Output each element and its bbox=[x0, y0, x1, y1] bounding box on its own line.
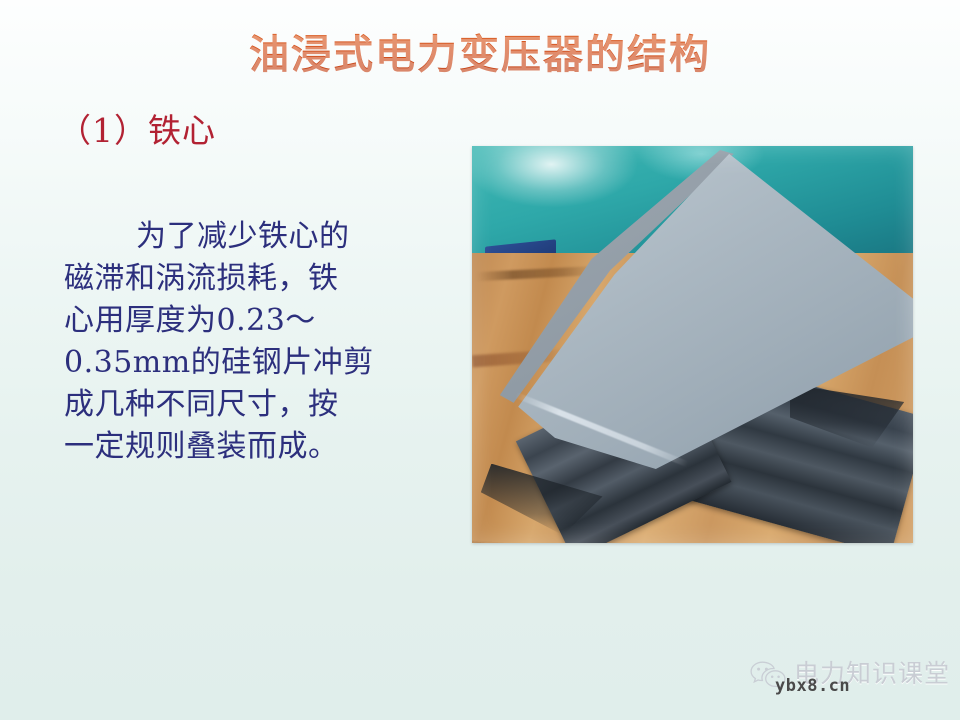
watermark-url: ybx8.cn bbox=[775, 676, 850, 696]
photo-artwork bbox=[472, 146, 913, 543]
watermark: 电力知识课堂 ybx8.cn bbox=[748, 652, 954, 704]
body-line: 磁滞和涡流损耗，铁 bbox=[64, 258, 436, 300]
body-line: 心用厚度为0.23～ bbox=[64, 300, 436, 342]
slide-canvas: 油浸式电力变压器的结构 （1）铁心 为了减少铁心的 磁滞和涡流损耗，铁 心用厚度… bbox=[0, 0, 960, 720]
body-paragraph: 为了减少铁心的 磁滞和涡流损耗，铁 心用厚度为0.23～ 0.35mm的硅钢片冲… bbox=[64, 216, 436, 468]
body-line: 一定规则叠装而成。 bbox=[64, 426, 436, 468]
section-heading: （1）铁心 bbox=[58, 104, 216, 152]
body-line: 成几种不同尺寸，按 bbox=[64, 384, 436, 426]
silicon-steel-sheet-photo bbox=[472, 146, 913, 543]
body-line: 0.35mm的硅钢片冲剪 bbox=[64, 342, 436, 384]
body-line: 为了减少铁心的 bbox=[64, 216, 436, 258]
page-title: 油浸式电力变压器的结构 bbox=[0, 22, 960, 80]
